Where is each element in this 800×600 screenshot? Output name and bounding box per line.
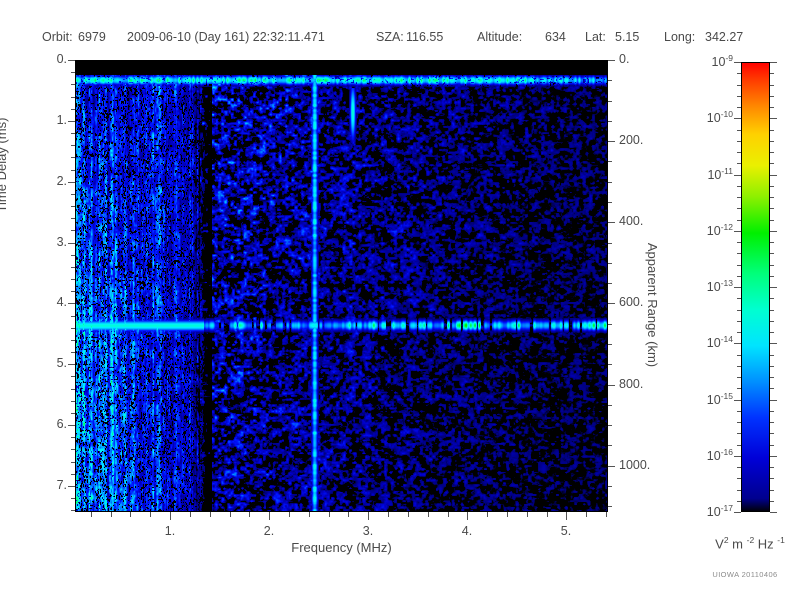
y-axis-right-tick-label: 400. [619,214,643,228]
y-axis-left-minor-tick [71,291,75,292]
colorbar-minor-tick [770,501,774,502]
colorbar-minor-tick [737,186,741,187]
x-axis-tick-label: 4. [455,524,479,538]
y-axis-right-minor-tick [608,202,612,203]
colorbar-minor-tick [770,96,774,97]
y-axis-right-minor-tick [608,425,612,426]
y-axis-left-tick-label: 2. [42,174,67,188]
colorbar-tick [770,512,777,513]
y-axis-right-tick-label: 800. [619,377,643,391]
colorbar-tick-mantissa: 10 [707,449,721,463]
x-axis-minor-tick [289,512,290,517]
x-axis-minor-tick [388,512,389,517]
y-axis-left-minor-tick [71,389,75,390]
colorbar-tick [734,175,741,176]
colorbar-tick [770,175,777,176]
y-axis-left-minor-tick [71,157,75,158]
colorbar-tick-label: 10-12 [685,222,733,238]
colorbar-minor-tick [737,366,741,367]
colorbar-tick [770,118,777,119]
colorbar-minor-tick [770,355,774,356]
y-axis-right-minor-tick [608,445,612,446]
x-axis-minor-tick [408,512,409,517]
x-axis-tick [269,512,270,520]
y-axis-left-minor-tick [71,510,75,511]
y-axis-left-minor-tick [71,133,75,134]
colorbar-tick-mantissa: 10 [707,280,721,294]
y-axis-right-tick-label: 200. [619,133,643,147]
colorbar-minor-tick [770,422,774,423]
colorbar-units-hz-exp: -1 [777,535,785,545]
colorbar-minor-tick [770,141,774,142]
colorbar-minor-tick [770,276,774,277]
x-axis-minor-tick [309,512,310,517]
colorbar-tick-label: 10-11 [685,166,733,182]
x-axis-minor-tick [507,512,508,517]
y-axis-right-minor-tick [608,283,612,284]
colorbar-tick-exponent: -15 [721,391,733,401]
colorbar-minor-tick [737,96,741,97]
colorbar-tick [734,400,741,401]
x-axis-minor-tick [448,512,449,517]
y-axis-right-tick [608,60,615,61]
y-axis-left-minor-tick [71,145,75,146]
altitude-label: Altitude: [477,30,522,44]
colorbar-minor-tick [737,467,741,468]
y-axis-right-tick-label: 1000. [619,458,650,472]
y-axis-left-minor-tick [71,376,75,377]
y-axis-right-tick [608,466,615,467]
colorbar-minor-tick [770,197,774,198]
y-axis-right-tick-label: 600. [619,295,643,309]
y-axis-left-tick-label: 5. [42,356,67,370]
colorbar-tick-exponent: -14 [721,334,733,344]
colorbar-minor-tick [737,197,741,198]
y-axis-left-minor-tick [71,316,75,317]
colorbar-minor-tick [770,411,774,412]
y-axis-left-minor-tick [71,255,75,256]
x-axis-tick-label: 2. [257,524,281,538]
colorbar-tick [734,118,741,119]
colorbar-minor-tick [770,445,774,446]
colorbar-tick [734,287,741,288]
colorbar-tick-label: 10-17 [685,503,733,519]
x-axis-minor-tick [190,512,191,517]
x-axis-tick-label: 5. [554,524,578,538]
long-value: 342.27 [705,30,743,44]
sza-label: SZA: [376,30,404,44]
colorbar-minor-tick [737,501,741,502]
x-axis-minor-tick [586,512,587,517]
colorbar-minor-tick [770,186,774,187]
colorbar-tick-exponent: -11 [721,166,733,176]
y-axis-left-title: Time Delay (ms) [0,85,9,245]
x-axis-tick-label: 1. [158,524,182,538]
colorbar-minor-tick [737,411,741,412]
colorbar-minor-tick [737,332,741,333]
x-axis-title: Frequency (MHz) [75,540,608,555]
colorbar-units: V2 m -2 Hz -1 [690,535,800,551]
colorbar-minor-tick [737,163,741,164]
y-axis-left-minor-tick [71,474,75,475]
x-axis-minor-tick [150,512,151,517]
colorbar-minor-tick [737,253,741,254]
colorbar-minor-tick [770,265,774,266]
lat-value: 5.15 [615,30,639,44]
colorbar-tick [734,456,741,457]
colorbar-tick-mantissa: 10 [707,111,721,125]
colorbar-tick [770,343,777,344]
y-axis-right-tick [608,303,615,304]
colorbar-minor-tick [770,332,774,333]
y-axis-left-minor-tick [71,498,75,499]
y-axis-left-minor-tick [71,413,75,414]
y-axis-left-tick [68,243,75,244]
x-axis-minor-tick [348,512,349,517]
x-axis-minor-tick [428,512,429,517]
y-axis-left-minor-tick [71,437,75,438]
ionogram-figure: Orbit: 6979 2009-06-10 (Day 161) 22:32:1… [0,0,800,600]
y-axis-left-minor-tick [71,170,75,171]
y-axis-right-tick [608,141,615,142]
y-axis-right-title: Apparent Range (km) [645,215,660,395]
colorbar-minor-tick [737,298,741,299]
colorbar-tick-label: 10-16 [685,447,733,463]
colorbar-minor-tick [737,141,741,142]
x-axis-tick [566,512,567,520]
colorbar-tick-label: 10-14 [685,334,733,350]
colorbar-minor-tick [770,321,774,322]
y-axis-left-minor-tick [71,449,75,450]
colorbar-minor-tick [770,242,774,243]
orbit-label: Orbit: [42,30,73,44]
colorbar-tick-exponent: -10 [721,109,733,119]
colorbar-minor-tick [737,490,741,491]
y-axis-left-minor-tick [71,194,75,195]
y-axis-left-minor-tick [71,340,75,341]
colorbar-tick [770,456,777,457]
colorbar-minor-tick [737,445,741,446]
colorbar-tick-mantissa: 10 [707,336,721,350]
y-axis-left-tick-label: 0. [42,52,67,66]
x-axis-minor-tick [130,512,131,517]
colorbar-minor-tick [770,107,774,108]
y-axis-left-minor-tick [71,328,75,329]
y-axis-left-minor-tick [71,84,75,85]
colorbar-tick-mantissa: 10 [707,393,721,407]
colorbar-minor-tick [737,242,741,243]
y-axis-left-tick-label: 7. [42,478,67,492]
y-axis-left-minor-tick [71,218,75,219]
y-axis-right-minor-tick [608,506,612,507]
y-axis-right-minor-tick [608,324,612,325]
y-axis-left-tick [68,303,75,304]
colorbar-tick-mantissa: 10 [712,55,726,69]
colorbar-minor-tick [770,377,774,378]
colorbar-minor-tick [770,73,774,74]
colorbar-tick-label: 10-10 [685,109,733,125]
y-axis-left-tick [68,486,75,487]
x-axis-minor-tick [547,512,548,517]
colorbar-minor-tick [770,388,774,389]
colorbar-tick-exponent: -13 [721,278,733,288]
altitude-value: 634 [545,30,566,44]
colorbar-minor-tick [770,220,774,221]
colorbar-tick [770,62,777,63]
colorbar-minor-tick [770,163,774,164]
y-axis-left-minor-tick [71,72,75,73]
x-axis-tick [170,512,171,520]
colorbar-minor-tick [737,388,741,389]
colorbar-tick-exponent: -12 [721,222,733,232]
y-axis-right-tick [608,385,615,386]
x-axis-minor-tick [329,512,330,517]
y-axis-right-minor-tick [608,364,612,365]
x-axis-minor-tick [210,512,211,517]
y-axis-left-tick [68,60,75,61]
x-axis-minor-tick [111,512,112,517]
colorbar-tick-mantissa: 10 [707,168,721,182]
colorbar-tick [734,512,741,513]
colorbar-minor-tick [737,433,741,434]
lat-label: Lat: [585,30,606,44]
y-axis-right-minor-tick [608,344,612,345]
x-axis-tick [467,512,468,520]
colorbar-units-hz: Hz [754,536,777,551]
y-axis-left-tick [68,364,75,365]
colorbar-minor-tick [737,377,741,378]
y-axis-left-tick-label: 4. [42,295,67,309]
colorbar-tick-label: 10-15 [685,391,733,407]
colorbar-tick [734,62,741,63]
colorbar-minor-tick [737,220,741,221]
colorbar-minor-tick [737,422,741,423]
colorbar-minor-tick [770,433,774,434]
y-axis-right-minor-tick [608,101,612,102]
y-axis-left-minor-tick [71,279,75,280]
colorbar-minor-tick [770,130,774,131]
colorbar-minor-tick [737,265,741,266]
y-axis-left-minor-tick [71,109,75,110]
colorbar-tick [734,231,741,232]
y-axis-left-tick-label: 6. [42,417,67,431]
spectrogram-canvas [75,60,608,512]
colorbar-minor-tick [737,321,741,322]
x-axis-minor-tick [487,512,488,517]
y-axis-right-minor-tick [608,161,612,162]
spectrogram-plot-area [75,60,608,512]
colorbar-minor-tick [737,107,741,108]
metadata-header: Orbit: 6979 2009-06-10 (Day 161) 22:32:1… [0,30,800,48]
y-axis-left-minor-tick [71,267,75,268]
y-axis-right-tick-label: 0. [619,52,629,66]
colorbar-tick-exponent: -9 [725,53,733,63]
x-axis-minor-tick [606,512,607,517]
colorbar-gradient [741,62,770,512]
colorbar-minor-tick [770,490,774,491]
colorbar-minor-tick [737,208,741,209]
colorbar-tick [770,287,777,288]
colorbar-minor-tick [770,478,774,479]
y-axis-left-minor-tick [71,230,75,231]
y-axis-left-tick-label: 3. [42,235,67,249]
long-label: Long: [664,30,695,44]
colorbar-tick [770,231,777,232]
y-axis-right-minor-tick [608,405,612,406]
colorbar-tick-label: 10-9 [685,53,733,69]
x-axis-minor-tick [249,512,250,517]
colorbar-tick-label: 10-13 [685,278,733,294]
y-axis-left-minor-tick [71,97,75,98]
y-axis-left-tick-label: 1. [42,113,67,127]
colorbar-minor-tick [737,85,741,86]
y-axis-left-minor-tick [71,401,75,402]
colorbar-tick [734,343,741,344]
y-axis-left-tick [68,121,75,122]
y-axis-left-tick [68,182,75,183]
x-axis-minor-tick [230,512,231,517]
x-axis-minor-tick [527,512,528,517]
colorbar-minor-tick [737,310,741,311]
y-axis-right-minor-tick [608,263,612,264]
observation-datetime: 2009-06-10 (Day 161) 22:32:11.471 [127,30,325,44]
colorbar-minor-tick [770,85,774,86]
x-axis-tick-label: 3. [356,524,380,538]
colorbar-units-v: V [715,536,724,551]
y-axis-left-minor-tick [71,206,75,207]
y-axis-left-minor-tick [71,352,75,353]
y-axis-right-minor-tick [608,80,612,81]
colorbar-tick-mantissa: 10 [707,224,721,238]
colorbar-minor-tick [770,208,774,209]
colorbar-minor-tick [770,310,774,311]
colorbar-minor-tick [737,478,741,479]
y-axis-right-minor-tick [608,486,612,487]
colorbar-minor-tick [737,73,741,74]
colorbar-tick [770,400,777,401]
colorbar-minor-tick [737,276,741,277]
colorbar-minor-tick [737,130,741,131]
colorbar-minor-tick [737,152,741,153]
colorbar-minor-tick [770,366,774,367]
colorbar-minor-tick [737,355,741,356]
colorbar-minor-tick [770,467,774,468]
credit-footer: UIOWA 20110406 [690,570,800,579]
colorbar-minor-tick [770,152,774,153]
sza-value: 116.55 [406,30,443,44]
y-axis-left-tick [68,425,75,426]
y-axis-right-minor-tick [608,243,612,244]
colorbar-minor-tick [770,253,774,254]
y-axis-left-minor-tick [71,462,75,463]
y-axis-right-minor-tick [608,121,612,122]
y-axis-right-tick [608,222,615,223]
colorbar-tick-exponent: -16 [721,447,733,457]
orbit-value: 6979 [78,30,106,44]
colorbar-tick-exponent: -17 [721,503,733,513]
x-axis-tick [368,512,369,520]
x-axis-minor-tick [91,512,92,517]
colorbar-tick-mantissa: 10 [707,505,721,519]
colorbar-units-m: m [729,536,747,551]
colorbar-minor-tick [770,298,774,299]
y-axis-right-minor-tick [608,182,612,183]
